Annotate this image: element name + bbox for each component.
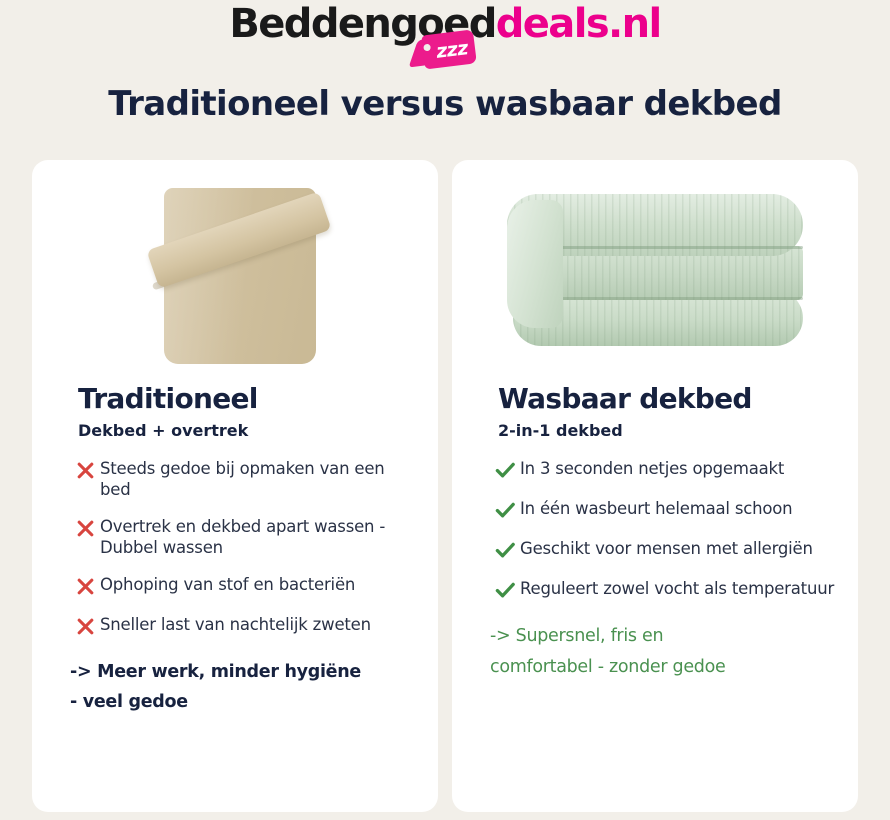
product-image-traditional	[32, 174, 438, 370]
cross-icon	[70, 459, 100, 483]
list-item: Geschikt voor mensen met allergiën	[490, 539, 840, 563]
cross-icon	[70, 615, 100, 639]
list-item: In 3 seconden netjes opgemaakt	[490, 459, 840, 483]
list-item: Ophoping van stof en bacteriën	[70, 575, 420, 599]
check-icon	[490, 579, 520, 603]
cross-icon	[70, 575, 100, 599]
card-title-washable: Wasbaar dekbed	[452, 384, 858, 415]
brand-header: Beddengoeddeals.nl zzz	[0, 0, 890, 82]
list-item-label: Sneller last van nachtelijk zweten	[100, 615, 371, 636]
card-title-traditional: Traditioneel	[32, 384, 438, 415]
check-icon	[490, 459, 520, 483]
conclusion-washable: -> Supersnel, fris en comfortabel - zond…	[452, 621, 858, 682]
check-icon	[490, 499, 520, 523]
list-item-label: Geschikt voor mensen met allergiën	[520, 539, 813, 560]
duvet-cover-icon	[154, 182, 316, 364]
conclusion-line: -> Supersnel, fris en	[490, 621, 842, 652]
card-subtitle-washable: 2-in-1 dekbed	[452, 422, 858, 440]
conclusion-traditional: -> Meer werk, minder hygiëne - veel gedo…	[32, 657, 438, 718]
card-washable: Wasbaar dekbed 2-in-1 dekbed In 3 second…	[452, 160, 858, 812]
rolled-duvet-icon	[507, 194, 803, 346]
product-image-washable	[452, 174, 858, 370]
logo-text-pink: deals.nl	[496, 1, 661, 47]
bullet-list-washable: In 3 seconden netjes opgemaakt In één wa…	[452, 459, 858, 603]
list-item-label: In 3 seconden netjes opgemaakt	[520, 459, 784, 480]
list-item: In één wasbeurt helemaal schoon	[490, 499, 840, 523]
list-item: Steeds gedoe bij opmaken van een bed	[70, 459, 420, 501]
list-item-label: Reguleert zowel vocht als temperatuur	[520, 579, 834, 600]
logo-tag-label: zzz	[428, 32, 477, 67]
check-icon	[490, 539, 520, 563]
bullet-list-traditional: Steeds gedoe bij opmaken van een bed Ove…	[32, 459, 438, 638]
price-tag-zzz-icon: zzz	[412, 29, 478, 70]
card-traditional: Traditioneel Dekbed + overtrek Steeds ge…	[32, 160, 438, 812]
conclusion-line: - veel gedoe	[70, 687, 422, 718]
cross-icon	[70, 517, 100, 541]
list-item: Reguleert zowel vocht als temperatuur	[490, 579, 840, 603]
list-item: Sneller last van nachtelijk zweten	[70, 615, 420, 639]
site-logo[interactable]: Beddengoeddeals.nl zzz	[229, 4, 660, 44]
conclusion-line: -> Meer werk, minder hygiëne	[70, 657, 422, 688]
list-item-label: Overtrek en dekbed apart wassen - Dubbel…	[100, 517, 420, 559]
page-title: Traditioneel versus wasbaar dekbed	[0, 86, 890, 123]
list-item-label: Steeds gedoe bij opmaken van een bed	[100, 459, 420, 501]
comparison-cards: Traditioneel Dekbed + overtrek Steeds ge…	[32, 160, 858, 812]
conclusion-line: comfortabel - zonder gedoe	[490, 652, 842, 683]
card-subtitle-traditional: Dekbed + overtrek	[32, 422, 438, 440]
list-item-label: Ophoping van stof en bacteriën	[100, 575, 355, 596]
list-item-label: In één wasbeurt helemaal schoon	[520, 499, 792, 520]
list-item: Overtrek en dekbed apart wassen - Dubbel…	[70, 517, 420, 559]
